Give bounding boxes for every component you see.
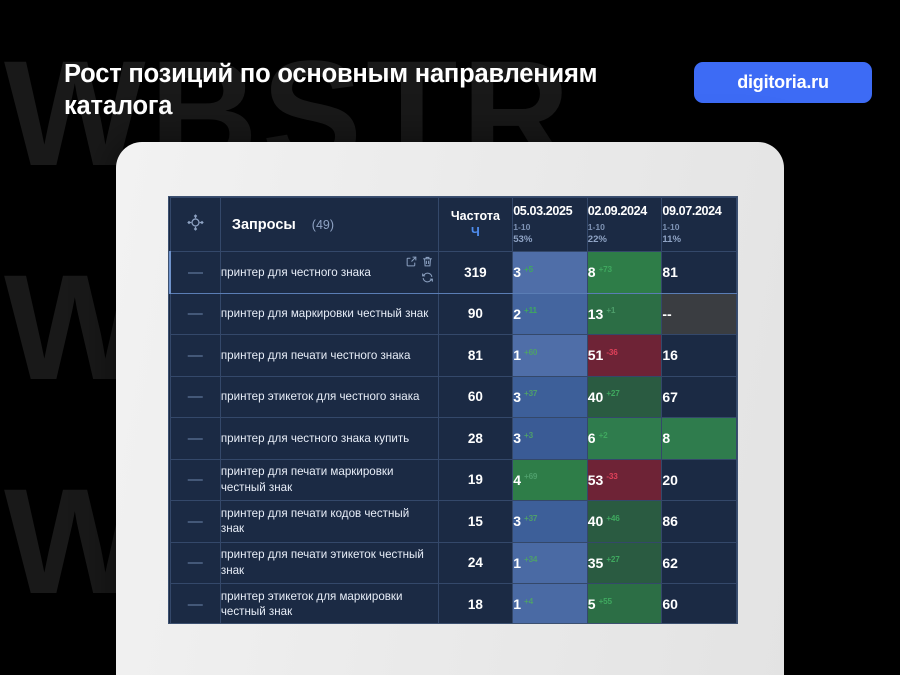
position-delta: +2 — [599, 431, 608, 440]
row-actions — [394, 255, 434, 284]
position-value: 5 — [588, 596, 596, 612]
table-row[interactable]: —принтер этикеток для честного знака603+… — [170, 376, 737, 418]
frequency-column-header[interactable]: Частота Ч — [438, 198, 513, 252]
select-all-header[interactable] — [170, 198, 220, 252]
position-delta: +1 — [606, 306, 615, 315]
crosshair-target-icon[interactable] — [186, 213, 205, 232]
position-value: 2 — [513, 306, 521, 322]
query-text: принтер для честного знака купить — [221, 431, 438, 446]
frequency-cell: 19 — [438, 459, 513, 501]
position-value: 3 — [513, 389, 521, 405]
position-cell[interactable]: 8+73 — [587, 252, 662, 294]
position-value: 20 — [662, 472, 678, 488]
frequency-cell: 90 — [438, 293, 513, 335]
table-row[interactable]: —принтер для печати маркировки честный з… — [170, 459, 737, 501]
position-cell[interactable]: 81 — [662, 252, 737, 294]
position-value: 53 — [588, 472, 604, 488]
frequency-cell: 28 — [438, 418, 513, 460]
position-cell[interactable]: 3+37 — [513, 501, 588, 543]
position-cell[interactable]: 6+2 — [587, 418, 662, 460]
position-cell[interactable]: 53-33 — [587, 459, 662, 501]
query-cell[interactable]: принтер этикеток для маркировки честный … — [220, 584, 438, 625]
row-select-toggle[interactable]: — — [170, 501, 220, 543]
frequency-cell: 81 — [438, 335, 513, 377]
position-value: 3 — [513, 513, 521, 529]
position-delta: +3 — [524, 431, 533, 440]
trash-icon[interactable] — [421, 255, 434, 268]
query-text: принтер для маркировки честный знак — [221, 306, 438, 321]
position-delta: -36 — [606, 348, 617, 357]
date-column-header-2[interactable]: 09.07.2024 1-10 11% — [662, 198, 737, 252]
position-cell[interactable]: 8 — [662, 418, 737, 460]
date-label: 02.09.2024 — [588, 203, 662, 219]
query-cell[interactable]: принтер этикеток для честного знака — [220, 376, 438, 418]
frequency-cell: 15 — [438, 501, 513, 543]
row-select-toggle[interactable]: — — [170, 376, 220, 418]
position-value: 60 — [662, 596, 678, 612]
position-value: 51 — [588, 347, 604, 363]
position-cell[interactable]: 1+60 — [513, 335, 588, 377]
queries-label: Запросы — [232, 217, 296, 233]
position-delta: +34 — [524, 555, 537, 564]
position-cell[interactable]: 67 — [662, 376, 737, 418]
query-cell[interactable]: принтер для печати этикеток честный знак — [220, 542, 438, 584]
position-cell[interactable]: 5+55 — [587, 584, 662, 625]
queries-column-header[interactable]: Запросы (49) — [220, 198, 438, 252]
position-delta: +55 — [599, 597, 612, 606]
position-value: 1 — [513, 555, 521, 571]
page-title: Рост позиций по основным направлениям ка… — [64, 58, 704, 122]
query-text: принтер для печати кодов честный знак — [221, 506, 438, 537]
position-delta: +4 — [524, 597, 533, 606]
query-cell[interactable]: принтер для печати маркировки честный зн… — [220, 459, 438, 501]
date-column-header-1[interactable]: 02.09.2024 1-10 22% — [587, 198, 662, 252]
position-cell[interactable]: 3+37 — [513, 376, 588, 418]
position-cell[interactable]: -- — [662, 293, 737, 335]
position-delta: +5 — [524, 265, 533, 274]
date-percent: 22% — [588, 234, 662, 246]
position-cell[interactable]: 1+4 — [513, 584, 588, 625]
date-range: 1-10 — [588, 221, 662, 233]
query-text: принтер для печати этикеток честный знак — [221, 547, 438, 578]
query-text: принтер этикеток для маркировки честный … — [221, 589, 438, 620]
position-cell[interactable]: 62 — [662, 542, 737, 584]
position-cell[interactable]: 40+27 — [587, 376, 662, 418]
position-value: 86 — [662, 513, 678, 529]
row-select-toggle[interactable]: — — [170, 584, 220, 625]
position-value: 62 — [662, 555, 678, 571]
position-cell[interactable]: 35+27 — [587, 542, 662, 584]
row-select-toggle[interactable]: — — [170, 293, 220, 335]
frequency-cell: 60 — [438, 376, 513, 418]
table-header: Запросы (49) Частота Ч 05.03.2025 1-10 5… — [170, 198, 737, 252]
position-value: 1 — [513, 596, 521, 612]
frequency-cell: 319 — [438, 252, 513, 294]
frequency-cell: 24 — [438, 542, 513, 584]
position-cell[interactable]: 2+11 — [513, 293, 588, 335]
refresh-icon[interactable] — [394, 271, 434, 284]
position-cell[interactable]: 86 — [662, 501, 737, 543]
table-row[interactable]: —принтер этикеток для маркировки честный… — [170, 584, 737, 625]
position-delta: +37 — [524, 389, 537, 398]
row-select-toggle[interactable]: — — [170, 252, 220, 294]
row-select-toggle[interactable]: — — [170, 418, 220, 460]
position-value: 40 — [588, 389, 604, 405]
date-column-header-0[interactable]: 05.03.2025 1-10 53% — [513, 198, 588, 252]
brand-badge: digitoria.ru — [694, 62, 872, 103]
position-delta: +69 — [524, 472, 537, 481]
position-cell[interactable]: 20 — [662, 459, 737, 501]
position-value: 1 — [513, 347, 521, 363]
frequency-label: Частота — [439, 209, 513, 225]
query-cell[interactable]: принтер для печати кодов честный знак — [220, 501, 438, 543]
position-cell[interactable]: 40+46 — [587, 501, 662, 543]
position-value: 3 — [513, 264, 521, 280]
position-delta: +37 — [524, 514, 537, 523]
position-delta: +27 — [606, 555, 619, 564]
position-cell[interactable]: 1+34 — [513, 542, 588, 584]
positions-table: Запросы (49) Частота Ч 05.03.2025 1-10 5… — [169, 197, 737, 624]
query-text: принтер этикеток для честного знака — [221, 389, 438, 404]
position-value: 6 — [588, 430, 596, 446]
position-cell[interactable]: 3+3 — [513, 418, 588, 460]
external-link-icon[interactable] — [405, 255, 418, 268]
position-cell[interactable]: 51-36 — [587, 335, 662, 377]
queries-count: (49) — [312, 218, 334, 232]
position-delta: +46 — [606, 514, 619, 523]
position-cell[interactable]: 13+1 — [587, 293, 662, 335]
frequency-sub-label: Ч — [439, 224, 513, 240]
date-range: 1-10 — [513, 221, 587, 233]
table-row[interactable]: —принтер для честного знака купить283+36… — [170, 418, 737, 460]
table-body: —принтер для честного знака3193+58+7381—… — [170, 252, 737, 625]
date-label: 09.07.2024 — [662, 203, 736, 219]
row-select-toggle[interactable]: — — [170, 459, 220, 501]
position-value: 35 — [588, 555, 604, 571]
brand-label: digitoria.ru — [737, 72, 829, 93]
rank-tracking-table: Запросы (49) Частота Ч 05.03.2025 1-10 5… — [168, 196, 738, 624]
table-row[interactable]: —принтер для маркировки честный знак902+… — [170, 293, 737, 335]
date-percent: 11% — [662, 234, 736, 246]
position-value: 13 — [588, 306, 604, 322]
position-cell[interactable]: 60 — [662, 584, 737, 625]
query-cell[interactable]: принтер для маркировки честный знак — [220, 293, 438, 335]
position-value: 81 — [662, 264, 678, 280]
position-cell[interactable]: 16 — [662, 335, 737, 377]
position-cell[interactable]: 3+5 — [513, 252, 588, 294]
position-delta: +73 — [599, 265, 612, 274]
position-delta: -33 — [606, 472, 617, 481]
position-delta: +60 — [524, 348, 537, 357]
position-value: 4 — [513, 472, 521, 488]
position-value: -- — [662, 306, 671, 322]
position-value: 67 — [662, 389, 678, 405]
date-percent: 53% — [513, 234, 587, 246]
query-text: принтер для печати честного знака — [221, 348, 438, 363]
position-cell[interactable]: 4+69 — [513, 459, 588, 501]
date-range: 1-10 — [662, 221, 736, 233]
frequency-cell: 18 — [438, 584, 513, 625]
screenshot-stage: WBSTR WBSTR WBSTR Рост позиций по основн… — [0, 0, 900, 675]
position-value: 8 — [588, 264, 596, 280]
row-select-toggle[interactable]: — — [170, 542, 220, 584]
row-select-toggle[interactable]: — — [170, 335, 220, 377]
table-row[interactable]: —принтер для печати этикеток честный зна… — [170, 542, 737, 584]
position-value: 3 — [513, 430, 521, 446]
query-cell[interactable]: принтер для честного знака купить — [220, 418, 438, 460]
table-row[interactable]: —принтер для честного знака3193+58+7381 — [170, 252, 737, 294]
position-value: 8 — [662, 430, 670, 446]
query-cell[interactable]: принтер для печати честного знака — [220, 335, 438, 377]
query-text: принтер для печати маркировки честный зн… — [221, 464, 438, 495]
position-value: 16 — [662, 347, 678, 363]
query-cell[interactable]: принтер для честного знака — [220, 252, 438, 294]
table-row[interactable]: —принтер для печати честного знака811+60… — [170, 335, 737, 377]
position-delta: +11 — [524, 306, 537, 315]
position-delta: +27 — [606, 389, 619, 398]
table-row[interactable]: —принтер для печати кодов честный знак15… — [170, 501, 737, 543]
position-value: 40 — [588, 513, 604, 529]
date-label: 05.03.2025 — [513, 203, 587, 219]
